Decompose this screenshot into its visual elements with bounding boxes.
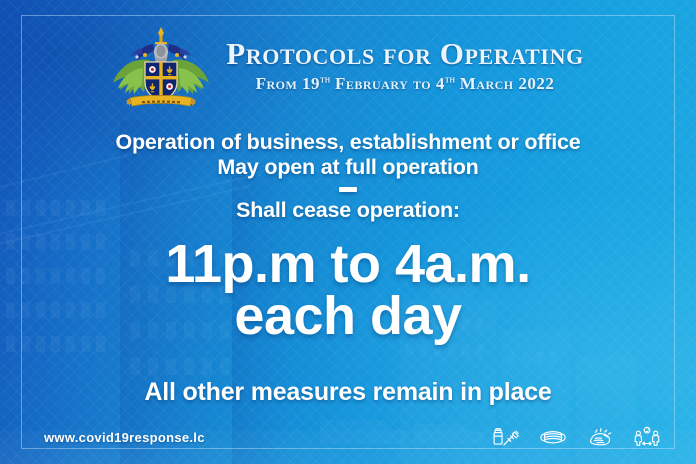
subtitle-prefix: From 19	[256, 74, 320, 93]
covid-protocol-poster: Protocols for Operating From 19th Februa…	[0, 0, 696, 464]
curfew-time-range: 11p.m to 4a.m.	[0, 238, 696, 290]
subtitle-suffix: March 2022	[455, 74, 554, 93]
handwashing-icon	[585, 424, 615, 450]
rule-line-3: Shall cease operation:	[0, 198, 696, 223]
poster-header: Protocols for Operating From 19th Februa…	[0, 24, 696, 108]
page-title: Protocols for Operating	[226, 38, 584, 70]
covid-measures-icon-row	[491, 424, 662, 450]
social-distancing-icon	[632, 424, 662, 450]
curfew-time-block: 11p.m to 4a.m. each day	[0, 238, 696, 343]
other-measures-note: All other measures remain in place	[0, 378, 696, 407]
subtitle-mid: February to 4	[330, 74, 445, 93]
saint-lucia-coat-of-arms-icon	[112, 24, 210, 108]
header-titles: Protocols for Operating From 19th Februa…	[226, 38, 584, 93]
subtitle-ordinal-2: th	[445, 74, 455, 85]
subtitle-ordinal-1: th	[320, 74, 330, 85]
curfew-frequency: each day	[0, 290, 696, 342]
dash-separator	[339, 187, 357, 192]
face-mask-icon	[538, 424, 568, 450]
rule-line-1: Operation of business, establishment or …	[0, 130, 696, 155]
operation-rules-block: Operation of business, establishment or …	[0, 130, 696, 223]
website-url[interactable]: www.covid19response.lc	[44, 430, 205, 445]
page-subtitle: From 19th February to 4th March 2022	[226, 74, 584, 94]
vaccine-vial-syringe-icon	[491, 424, 521, 450]
rule-line-2: May open at full operation	[0, 155, 696, 180]
poster-footer: www.covid19response.lc	[44, 424, 662, 450]
